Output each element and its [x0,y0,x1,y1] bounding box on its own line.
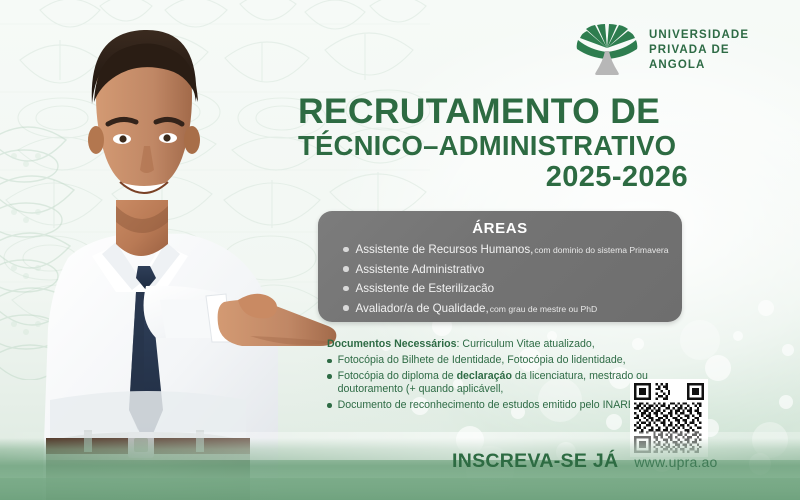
bullet-icon [343,286,349,292]
list-item: Assistente de Recursos Humanos,com domin… [318,242,682,258]
headline-line-1: RECRUTAMENTO DE [298,92,690,130]
page-title: RECRUTAMENTO DE TÉCNICO–ADMINISTRATIVO 2… [298,92,690,194]
cta-text[interactable]: INSCREVA-SE JÁ [452,450,618,473]
list-item: Assistente de Esterilizacão [318,281,682,297]
logo-line-3: ANGOLA [649,58,749,73]
qr-code-icon[interactable] [634,383,704,453]
areas-title: ÁREAS [318,211,682,237]
background-floral-pattern-left [0,120,230,380]
areas-panel: ÁREAS Assistente de Recursos Humanos,com… [318,211,682,322]
logo-line-1: UNIVERSIDADE [649,28,749,43]
list-item: Documento de reconhecimento de estudos e… [327,399,657,413]
qr-code[interactable] [630,379,708,457]
area-label: Avaliador/a de Qualidade, [356,302,489,315]
list-item: Fotocópia do diploma de declaraçáo da li… [327,370,657,397]
doc-text-pre: Fotocópia do diploma de [338,370,457,382]
university-logo: UNIVERSIDADE PRIVADA DE ANGOLA [576,24,749,76]
doc-text-bold: declaraçáo [457,370,512,382]
area-note: com grau de mestre ou PhD [490,304,597,314]
area-label: Assistente de Recursos Humanos, [356,243,534,256]
university-name: UNIVERSIDADE PRIVADA DE ANGOLA [649,28,749,73]
area-label: Assistente Administrativo [356,263,485,276]
bullet-icon [343,247,349,253]
area-label: Assistente de Esterilizacão [356,282,495,295]
headline-line-3: 2025-2026 [298,161,690,194]
cta-row: INSCREVA-SE JÁ www.upra.ao [452,450,718,473]
documents-section: Documentos Necessários: Curriculum Vitae… [327,337,657,414]
headline-line-2: TÉCNICO–ADMINISTRATIVO [298,130,690,161]
bullet-icon [343,266,349,272]
website-url[interactable]: www.upra.ao [634,454,717,470]
bullet-icon [327,403,332,408]
logo-line-2: PRIVADA DE [649,43,749,58]
bottom-green-band-lower [0,478,800,500]
bullet-icon [343,305,349,311]
area-note: com dominio do sistema Primavera [534,245,668,255]
areas-list: Assistente de Recursos Humanos,com domin… [318,242,682,317]
documents-heading: Documentos Necessários: Curriculum Vitae… [327,337,657,352]
tree-fan-logo-icon [576,24,638,76]
list-item: Avaliador/a de Qualidade,com grau de mes… [318,301,682,317]
documents-list: Fotocópia do Bilhete de Identidade, Foto… [327,354,657,412]
documents-heading-rest: : Curriculum Vitae atualizado, [457,338,595,350]
photo-person [10,0,340,500]
doc-text-pre: Documento de reconhecimento de estudos e… [338,399,652,411]
list-item: Fotocópia do Bilhete de Identidade, Foto… [327,354,657,368]
bullet-icon [327,374,332,379]
recruitment-poster: UNIVERSIDADE PRIVADA DE ANGOLA RECRUTAME… [0,0,800,500]
list-item: Assistente Administrativo [318,262,682,278]
bullet-icon [327,359,332,364]
doc-text-pre: Fotocópia do Bilhete de Identidade, Foto… [338,354,626,366]
documents-heading-bold: Documentos Necessários [327,338,457,350]
